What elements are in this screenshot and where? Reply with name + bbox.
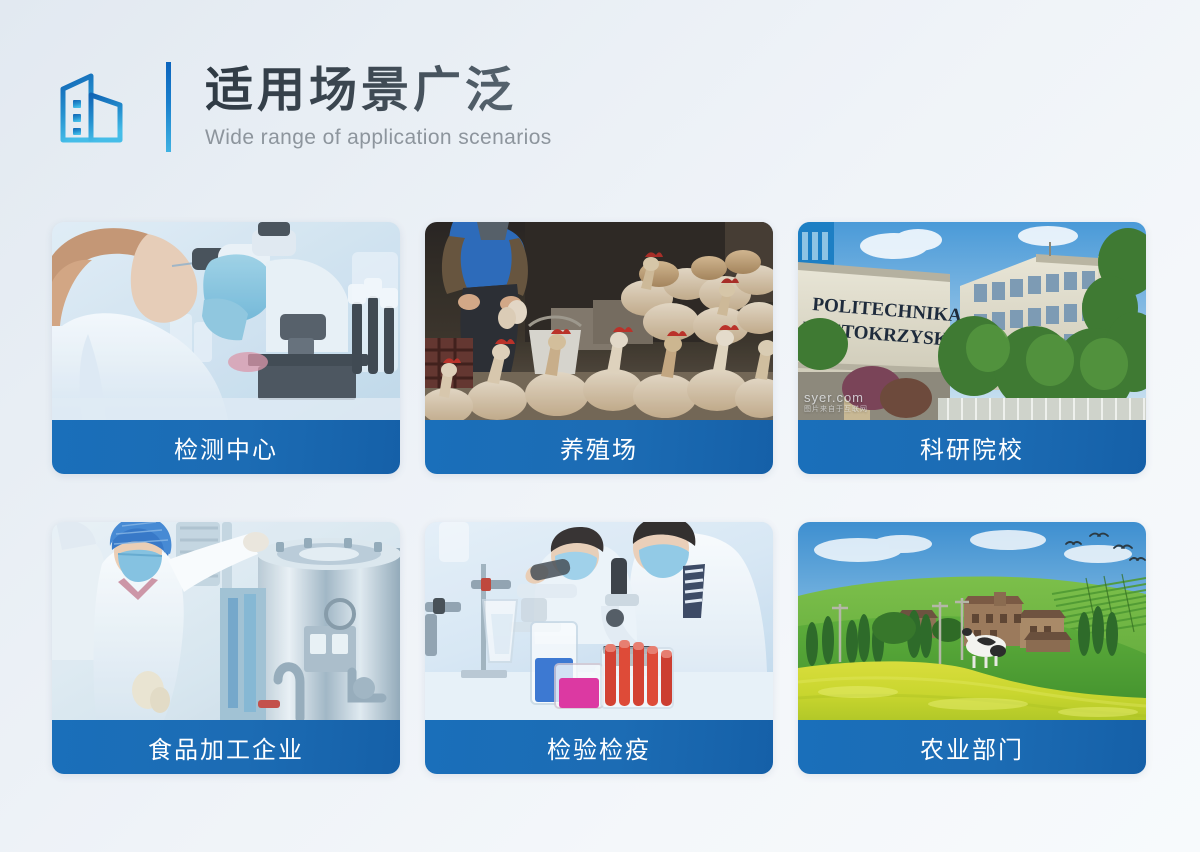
scenario-label-research-institute: 科研院校 [798,420,1146,474]
scenario-card-research-institute[interactable]: POLITECHNIKA WIĘTOKRZYSKA [798,222,1146,474]
scenario-card-inspection-quarantine[interactable]: 检验检疫 [425,522,773,774]
header-divider [166,62,171,152]
scenario-card-detection-center[interactable]: 检测中心 [52,222,400,474]
breeding-farm-photo [425,222,773,420]
building-icon [58,69,130,145]
detection-center-photo [52,222,400,420]
research-institute-photo: POLITECHNIKA WIĘTOKRZYSKA [798,222,1146,420]
scenario-card-food-processing[interactable]: 食品加工企业 [52,522,400,774]
scenario-label-breeding-farm: 养殖场 [425,420,773,474]
agriculture-department-photo [798,522,1146,720]
scenario-label-detection-center: 检测中心 [52,420,400,474]
inspection-quarantine-photo [425,522,773,720]
scenario-card-grid: 检测中心 [52,222,1148,774]
scenario-label-food-processing: 食品加工企业 [52,720,400,774]
scenario-card-agriculture-department[interactable]: 农业部门 [798,522,1146,774]
page-title: 适用场景广泛 [205,64,552,118]
scenario-label-inspection-quarantine: 检验检疫 [425,720,773,774]
food-processing-photo [52,522,400,720]
page-header: 适用场景广泛 Wide range of application scenari… [58,52,552,162]
page-subtitle: Wide range of application scenarios [205,126,552,150]
scenario-label-agriculture-department: 农业部门 [798,720,1146,774]
header-titles: 适用场景广泛 Wide range of application scenari… [205,64,552,151]
scenario-card-breeding-farm[interactable]: 养殖场 [425,222,773,474]
